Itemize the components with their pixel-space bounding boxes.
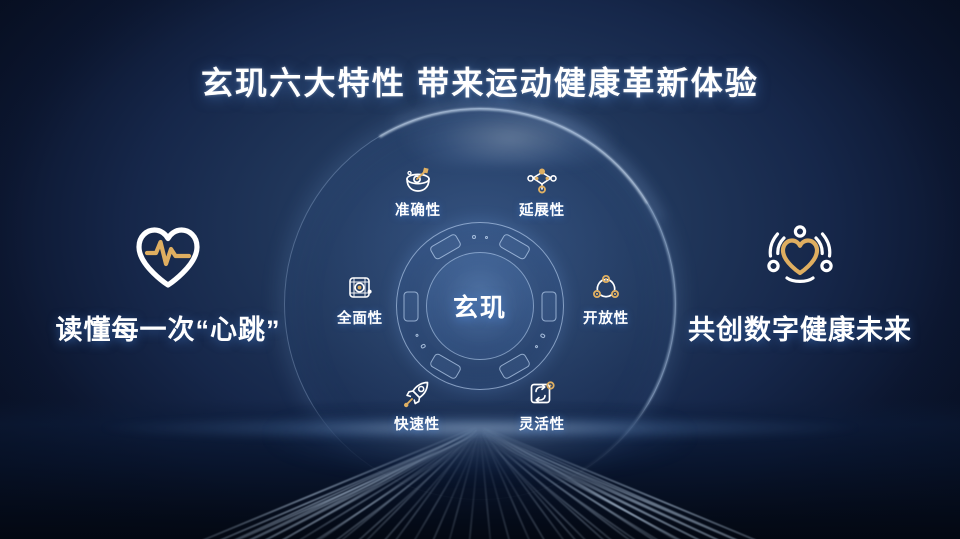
right-panel: 共创数字健康未来 [650,222,950,347]
transform-square-icon [487,378,597,408]
feature-openness[interactable]: 开放性 [551,272,661,328]
heart-signal-icon [650,222,950,294]
frame-scan-icon [305,272,415,302]
left-panel-text: 读懂每一次“心跳” [18,308,318,347]
feature-comprehensiveness-label: 全面性 [305,307,415,328]
feature-extensibility[interactable]: 延展性 [487,164,597,220]
heart-pulse-icon [18,222,318,294]
right-panel-text: 共创数字健康未来 [650,308,950,347]
orb-top-glow [400,96,620,166]
feature-speed[interactable]: 快速性 [362,378,472,434]
hub-ring: 玄玑 [396,222,564,390]
feature-openness-label: 开放性 [551,307,661,328]
floor-light-streaks [0,399,960,539]
share-nodes-icon [551,272,661,302]
feature-speed-label: 快速性 [362,413,472,434]
feature-accuracy[interactable]: 准确性 [363,164,473,220]
target-accuracy-icon [363,164,473,194]
left-panel: 读懂每一次“心跳” [18,222,318,347]
network-nodes-icon [487,164,597,194]
slide-canvas: 玄玑六大特性 带来运动健康革新体验 读懂每一次“心跳” [0,0,960,539]
feature-flexibility-label: 灵活性 [487,413,597,434]
page-title: 玄玑六大特性 带来运动健康革新体验 [0,58,960,104]
rocket-icon [362,378,472,408]
feature-flexibility[interactable]: 灵活性 [487,378,597,434]
feature-extensibility-label: 延展性 [487,199,597,220]
hub-label: 玄玑 [396,222,564,390]
feature-accuracy-label: 准确性 [363,199,473,220]
feature-comprehensiveness[interactable]: 全面性 [305,272,415,328]
